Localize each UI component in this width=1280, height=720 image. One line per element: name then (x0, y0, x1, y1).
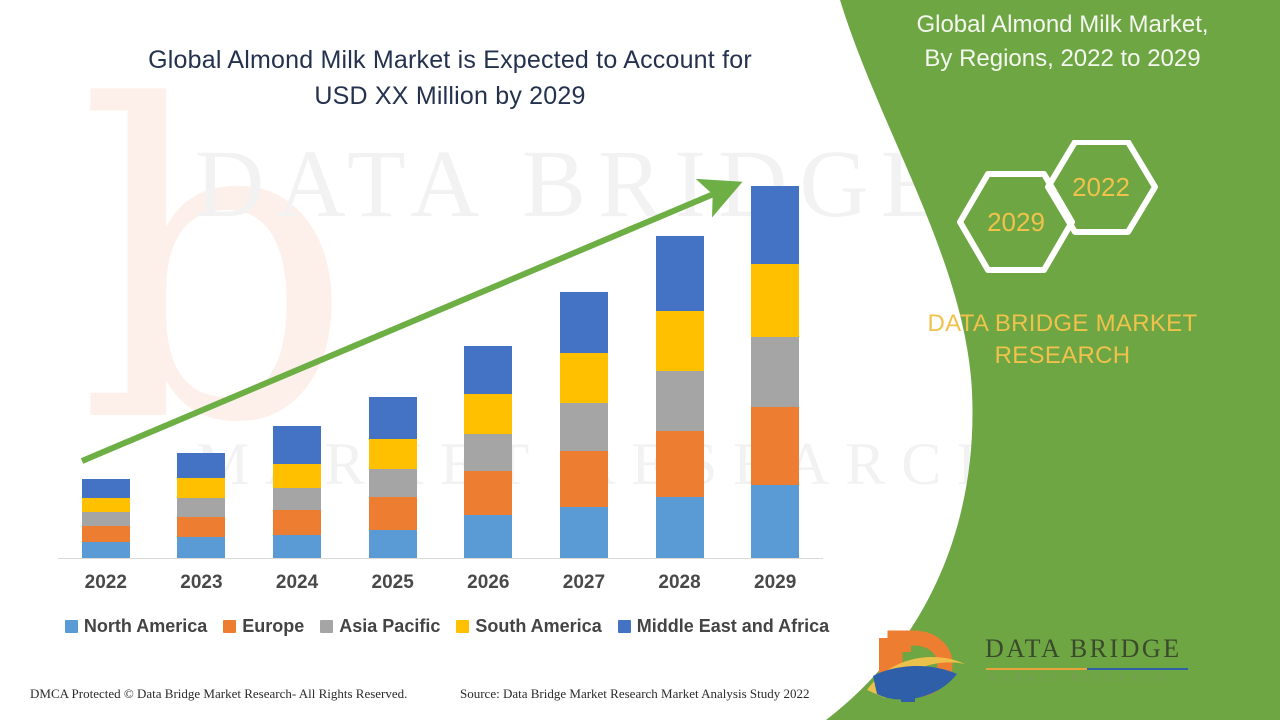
bar-segment[interactable] (273, 426, 321, 464)
dmca-notice: DMCA Protected © Data Bridge Market Rese… (30, 686, 407, 702)
logo-rule (986, 668, 1188, 670)
bar-segment[interactable] (369, 439, 417, 469)
hexagon-2022-label: 2022 (1072, 172, 1130, 202)
x-axis-label-2028: 2028 (632, 572, 728, 594)
bar-2026[interactable] (464, 346, 512, 559)
bar-segment[interactable] (464, 394, 512, 434)
bar-segment[interactable] (751, 407, 799, 485)
legend-label: Middle East and Africa (637, 616, 829, 637)
legend-swatch-icon (456, 620, 469, 633)
side-panel-title: Global Almond Milk Market, By Regions, 2… (845, 8, 1280, 76)
slide-canvas: b DATA BRIDGE MARKET RESEARCH Global Alm… (0, 0, 1280, 720)
bar-segment[interactable] (560, 507, 608, 559)
bar-segment[interactable] (464, 515, 512, 559)
bar-2022[interactable] (82, 479, 130, 559)
bar-segment[interactable] (751, 186, 799, 264)
bar-segment[interactable] (82, 512, 130, 526)
brand-name: DATA BRIDGE MARKET RESEARCH (865, 308, 1260, 372)
legend-swatch-icon (223, 620, 236, 633)
legend-item[interactable]: South America (456, 616, 601, 637)
source-note: Source: Data Bridge Market Research Mark… (460, 686, 809, 702)
x-axis-label-2026: 2026 (440, 572, 536, 594)
bar-2029[interactable] (751, 186, 799, 559)
bar-segment[interactable] (369, 530, 417, 559)
chart-legend: North AmericaEuropeAsia PacificSouth Ame… (52, 616, 842, 637)
bar-segment[interactable] (177, 517, 225, 537)
bar-segment[interactable] (464, 434, 512, 471)
x-axis-label-2023: 2023 (153, 572, 249, 594)
legend-item[interactable]: Asia Pacific (320, 616, 440, 637)
hexagon-2029-label: 2029 (987, 207, 1045, 237)
chart-title-line1: Global Almond Milk Market is Expected to… (148, 46, 752, 74)
bar-segment[interactable] (273, 510, 321, 535)
bar-segment[interactable] (464, 471, 512, 515)
bar-segment[interactable] (177, 478, 225, 498)
axis-baseline (58, 558, 823, 559)
bar-segment[interactable] (656, 311, 704, 371)
logo-mark-icon (865, 628, 975, 706)
bar-2025[interactable] (369, 397, 417, 559)
stacked-bar-chart (58, 150, 823, 559)
bar-segment[interactable] (369, 497, 417, 530)
bar-segment[interactable] (82, 479, 130, 498)
legend-label: North America (84, 616, 207, 637)
bar-segment[interactable] (656, 497, 704, 559)
bar-segment[interactable] (656, 236, 704, 311)
bar-segment[interactable] (82, 498, 130, 512)
bar-segment[interactable] (82, 542, 130, 559)
bar-segment[interactable] (656, 371, 704, 431)
x-axis-label-2025: 2025 (345, 572, 441, 594)
bar-segment[interactable] (751, 264, 799, 337)
bar-segment[interactable] (177, 498, 225, 517)
bar-segment[interactable] (82, 526, 130, 542)
side-panel: Global Almond Milk Market, By Regions, 2… (845, 0, 1280, 720)
legend-item[interactable]: Middle East and Africa (618, 616, 829, 637)
hexagon-badges: 2029 2022 (940, 140, 1190, 305)
data-bridge-logo: DATA BRIDGE MARKET RESEARCH (865, 628, 1265, 708)
logo-subtitle: MARKET RESEARCH (987, 672, 1168, 684)
bar-segment[interactable] (464, 346, 512, 394)
chart-title-line2: USD XX Million by 2029 (314, 82, 585, 110)
bar-segment[interactable] (369, 469, 417, 497)
bar-segment[interactable] (273, 464, 321, 488)
side-panel-title-line2: By Regions, 2022 to 2029 (924, 45, 1200, 72)
footer: DMCA Protected © Data Bridge Market Rese… (0, 682, 845, 712)
x-axis-label-2022: 2022 (58, 572, 154, 594)
brand-name-line2: RESEARCH (995, 342, 1131, 369)
legend-label: Asia Pacific (339, 616, 440, 637)
bar-segment[interactable] (656, 431, 704, 497)
bar-2028[interactable] (656, 236, 704, 559)
brand-name-line1: DATA BRIDGE MARKET (928, 310, 1198, 337)
legend-label: Europe (242, 616, 304, 637)
x-axis-label-2029: 2029 (727, 572, 823, 594)
legend-label: South America (475, 616, 601, 637)
bar-segment[interactable] (177, 453, 225, 478)
bar-segment[interactable] (273, 488, 321, 510)
legend-item[interactable]: North America (65, 616, 207, 637)
legend-swatch-icon (618, 620, 631, 633)
bar-2023[interactable] (177, 453, 225, 559)
legend-swatch-icon (65, 620, 78, 633)
bar-segment[interactable] (751, 337, 799, 407)
x-axis-label-2027: 2027 (536, 572, 632, 594)
x-axis-label-2024: 2024 (249, 572, 345, 594)
side-panel-title-line1: Global Almond Milk Market, (916, 11, 1208, 38)
bar-segment[interactable] (560, 451, 608, 507)
bar-2024[interactable] (273, 426, 321, 559)
bar-segment[interactable] (560, 403, 608, 451)
bar-segment[interactable] (560, 353, 608, 403)
x-axis-labels: 20222023202420252026202720282029 (58, 572, 823, 598)
legend-item[interactable]: Europe (223, 616, 304, 637)
bar-segment[interactable] (751, 485, 799, 559)
logo-wordmark: DATA BRIDGE (985, 634, 1182, 664)
legend-swatch-icon (320, 620, 333, 633)
bar-segment[interactable] (369, 397, 417, 439)
chart-title: Global Almond Milk Market is Expected to… (100, 42, 800, 114)
bar-segment[interactable] (560, 292, 608, 353)
bar-2027[interactable] (560, 292, 608, 559)
bar-segment[interactable] (273, 535, 321, 559)
bar-segment[interactable] (177, 537, 225, 559)
